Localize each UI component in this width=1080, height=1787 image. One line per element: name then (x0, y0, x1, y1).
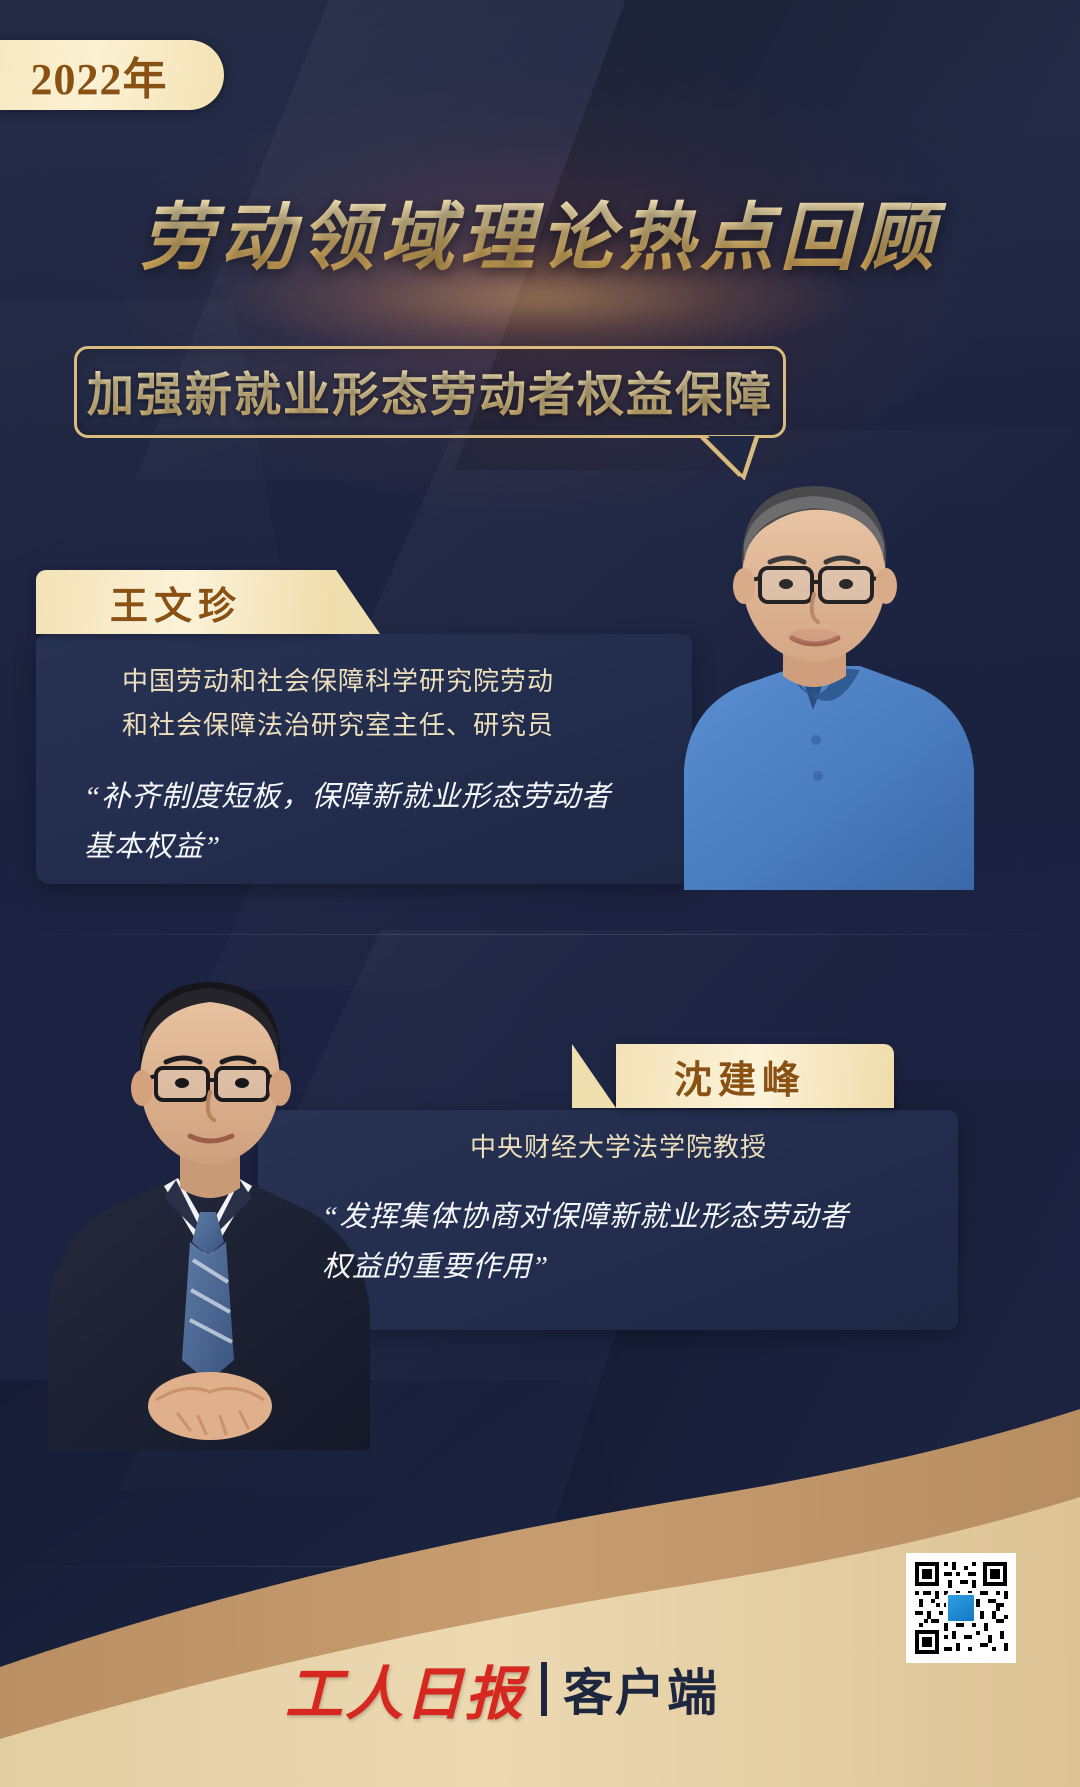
expert-2-affiliation: 中央财经大学法学院教授 (470, 1126, 950, 1170)
expert-1-affiliation-line2: 和社会保障法治研究室主任、研究员 (122, 704, 662, 748)
logo-divider (541, 1662, 547, 1716)
qr-center-logo (946, 1593, 976, 1623)
expert-2-quote-line1: “发挥集体协商对保障新就业形态劳动者 (322, 1192, 942, 1242)
expert-2-quote-line2: 权益的重要作用” (322, 1242, 942, 1292)
footer-logo: 工人日报 客户端 (285, 1647, 719, 1731)
app-name: 客户端 (563, 1653, 719, 1725)
year-badge-label: 2022年 (31, 43, 168, 107)
expert-1-affiliation-line1: 中国劳动和社会保障科学研究院劳动 (122, 660, 662, 704)
page-title: 劳动领域理论热点回顾 (0, 178, 1080, 285)
expert-1-quote: “补齐制度短板，保障新就业形态劳动者 基本权益” (84, 772, 664, 872)
expert-2-name-tag: 沈建峰 (616, 1044, 894, 1108)
expert-2-affiliation-line1: 中央财经大学法学院教授 (470, 1126, 950, 1170)
poster-canvas: 2022年 劳动领域理论热点回顾 加强新就业形态劳动者权益保障 (0, 0, 1080, 1787)
expert-2-name: 沈建峰 (674, 1049, 806, 1104)
expert-1-name-tag: 王文珍 (36, 570, 336, 634)
subtitle-text: 加强新就业形态劳动者权益保障 (74, 344, 786, 436)
expert-1-affiliation: 中国劳动和社会保障科学研究院劳动 和社会保障法治研究室主任、研究员 (122, 660, 662, 748)
qr-code[interactable] (906, 1553, 1016, 1663)
expert-1-name: 王文珍 (110, 575, 242, 630)
brand-name: 工人日报 (285, 1647, 525, 1731)
expert-1-quote-line2: 基本权益” (84, 822, 664, 872)
expert-1-portrait (648, 470, 978, 890)
expert-2-quote: “发挥集体协商对保障新就业形态劳动者 权益的重要作用” (322, 1192, 942, 1292)
year-badge: 2022年 (0, 40, 224, 110)
expert-1-quote-line1: “补齐制度短板，保障新就业形态劳动者 (84, 772, 664, 822)
